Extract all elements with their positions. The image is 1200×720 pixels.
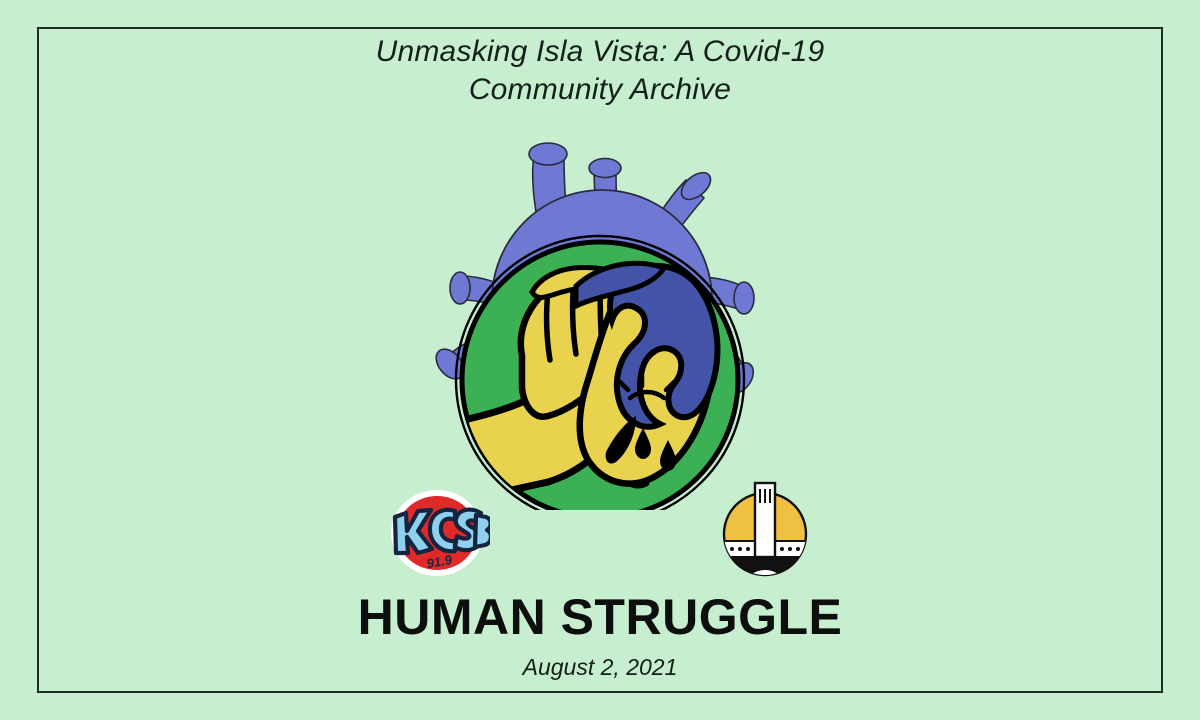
episode-title: HUMAN STRUGGLE — [0, 590, 1200, 644]
podcast-cover-slide: Unmasking Isla Vista: A Covid-19 Communi… — [0, 0, 1200, 720]
episode-date: August 2, 2021 — [0, 652, 1200, 682]
cover-illustration — [430, 110, 770, 510]
series-title-line-2: Community Archive — [0, 71, 1200, 109]
series-title-line-1: Unmasking Isla Vista: A Covid-19 — [0, 33, 1200, 71]
series-title: Unmasking Isla Vista: A Covid-19 Communi… — [0, 33, 1200, 109]
storke-tower-logo — [718, 477, 812, 582]
kcsb-logo: 91.9 — [385, 487, 490, 579]
